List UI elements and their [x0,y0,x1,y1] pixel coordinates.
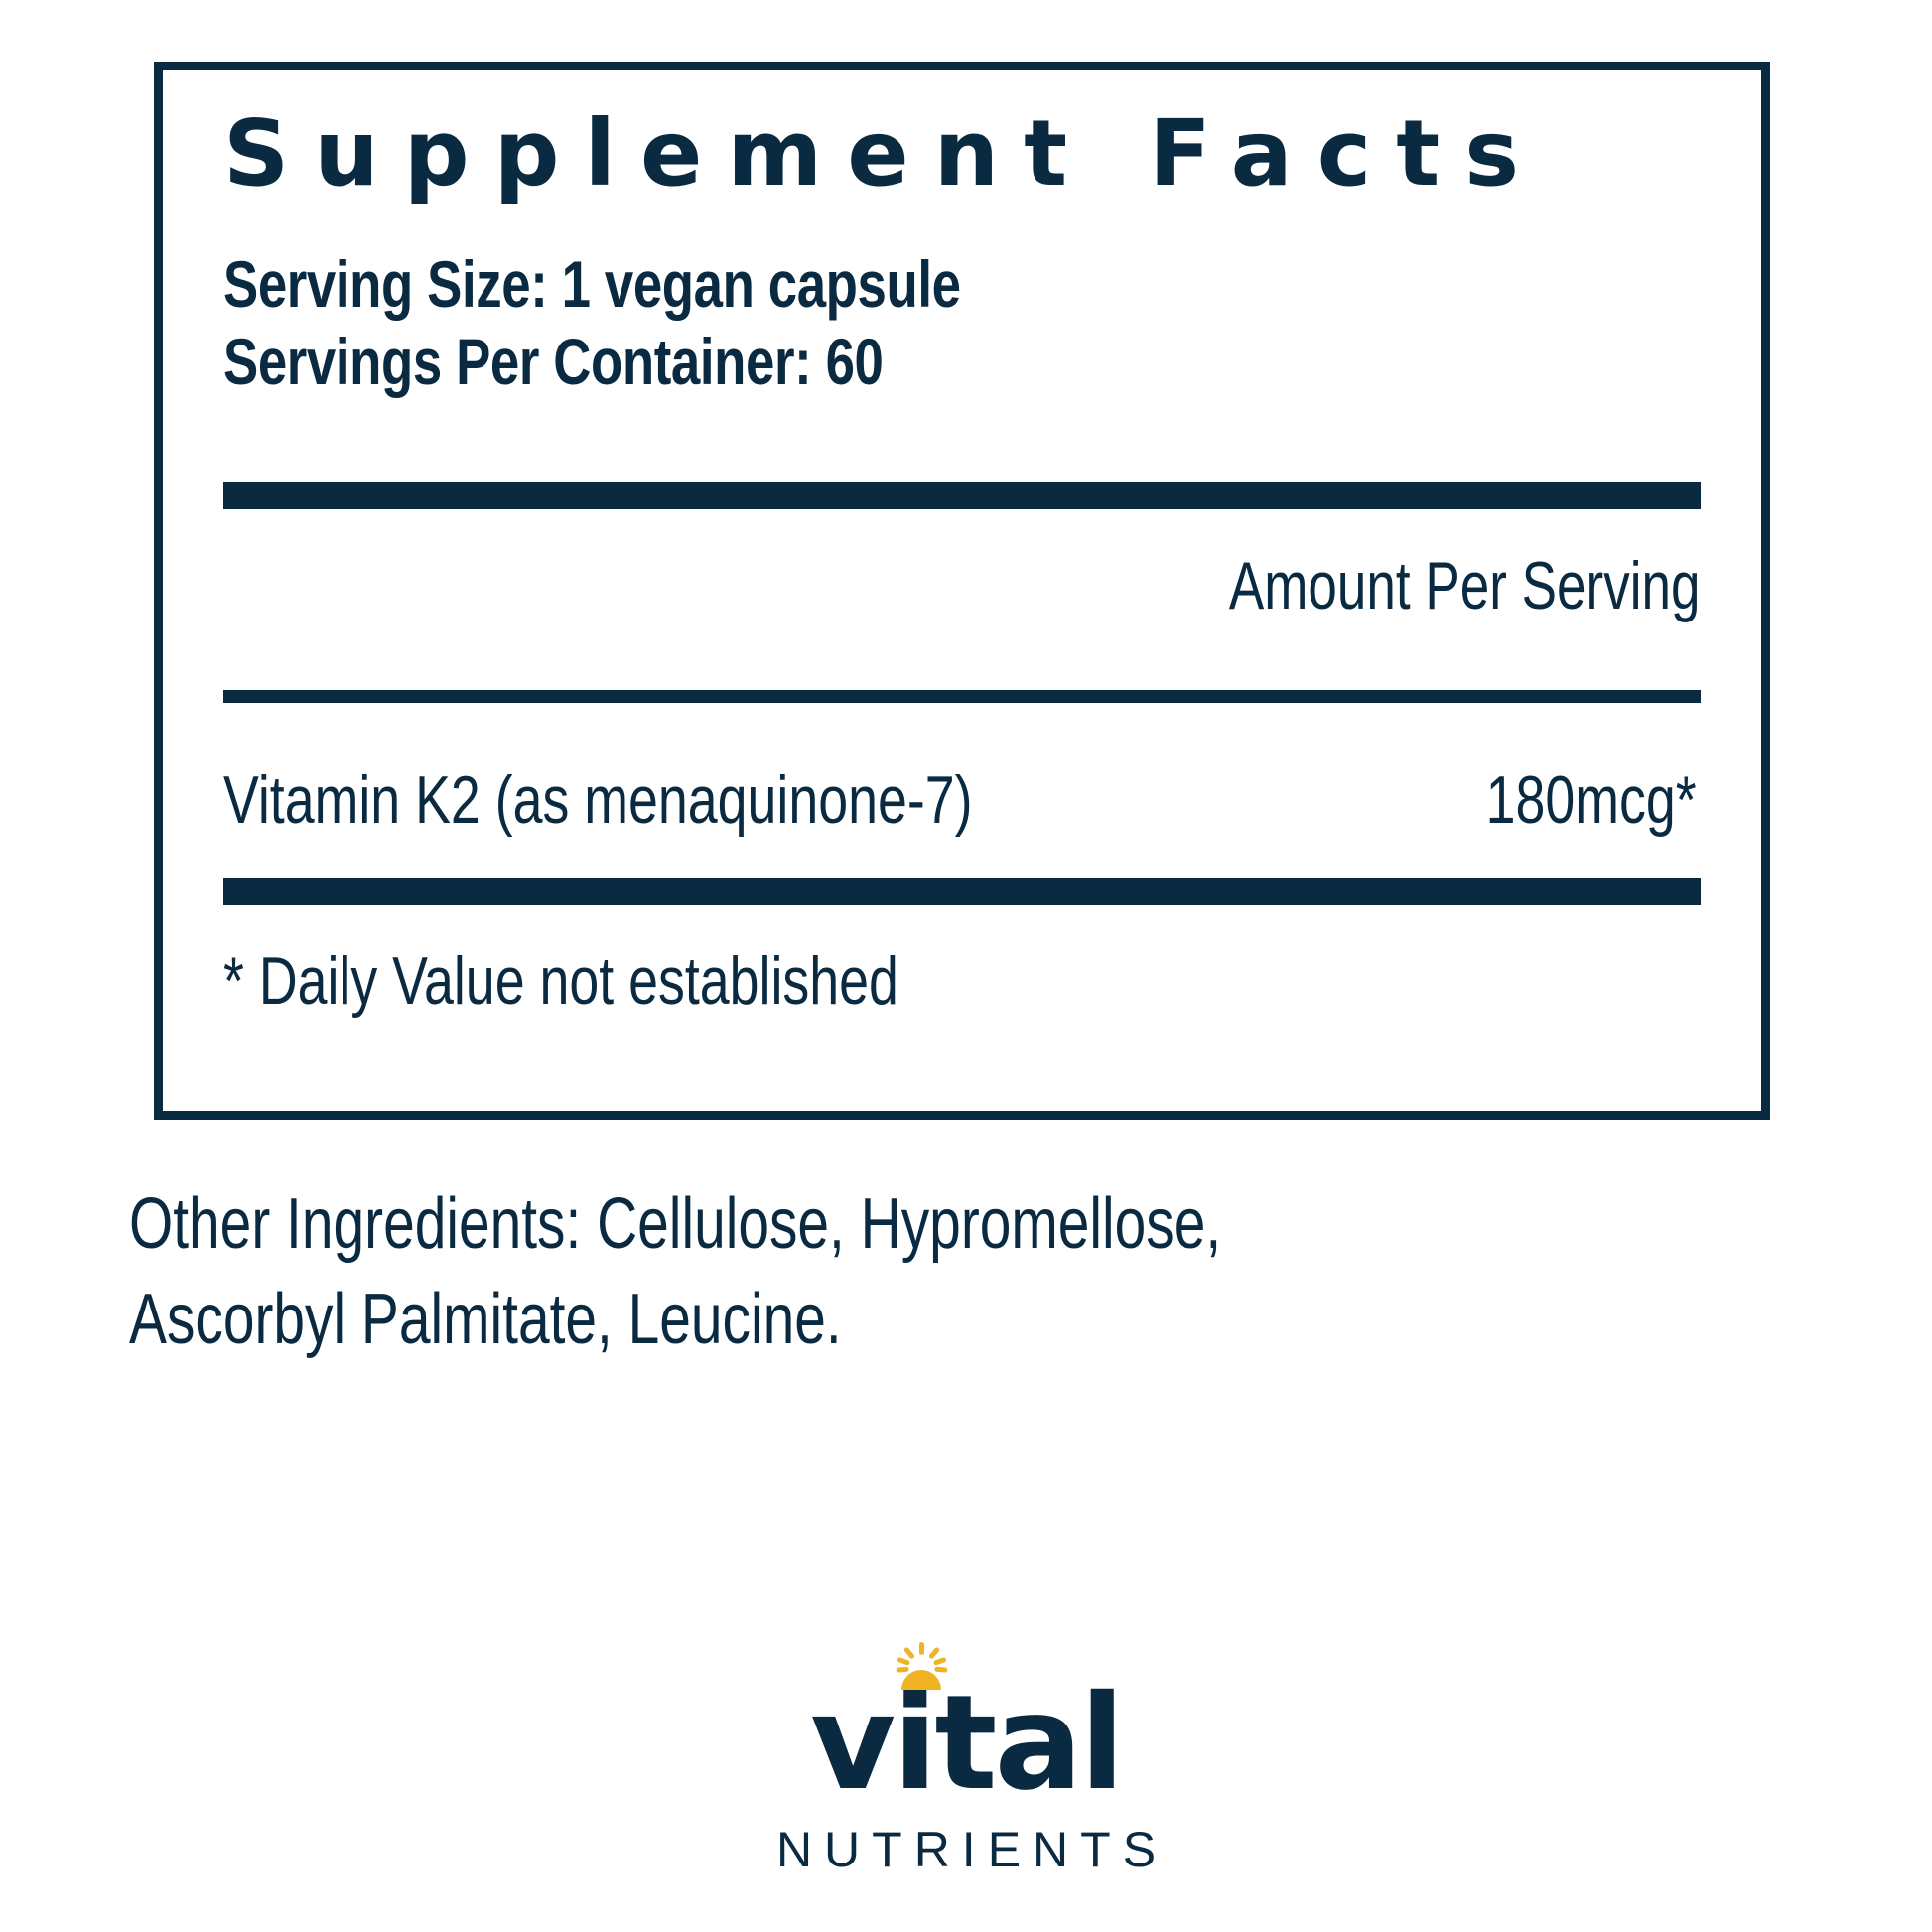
other-ingredients-line-2: Ascorbyl Palmitate, Leucine. [129,1272,1352,1367]
logo-wordmark-text: vital [810,1667,1122,1820]
serving-info-block: Serving Size: 1 vegan capsule Servings P… [223,245,1701,400]
logo-wordmark-container: vital [810,1678,1122,1809]
page-title: Supplement Facts [223,108,1701,200]
logo-subtext: NUTRIENTS [764,1823,1168,1876]
other-ingredients-line-1: Other Ingredients: Cellulose, Hypromello… [129,1176,1352,1272]
amount-per-serving-header: Amount Per Serving [223,547,1701,624]
supplement-facts-inner: Supplement Facts Serving Size: 1 vegan c… [223,70,1701,1111]
nutrient-amount: 180mcg* [1485,761,1701,839]
other-ingredients-block: Other Ingredients: Cellulose, Hypromello… [129,1176,1678,1367]
divider-rule-top [223,482,1701,509]
divider-rule-bottom [223,878,1701,905]
divider-rule-middle [223,690,1701,703]
servings-per-container-text: Servings Per Container: 60 [223,323,1405,400]
brand-logo: vital NUTRIENTS [0,1678,1932,1876]
amount-per-serving-label: Amount Per Serving [1229,547,1701,624]
nutrient-name: Vitamin K2 (as menaquinone-7) [223,761,972,839]
table-row: Vitamin K2 (as menaquinone-7) 180mcg* [223,746,1701,855]
serving-size-text: Serving Size: 1 vegan capsule [223,245,1405,323]
daily-value-footnote: * Daily Value not established [223,942,1391,1020]
supplement-facts-panel: Supplement Facts Serving Size: 1 vegan c… [154,62,1770,1120]
